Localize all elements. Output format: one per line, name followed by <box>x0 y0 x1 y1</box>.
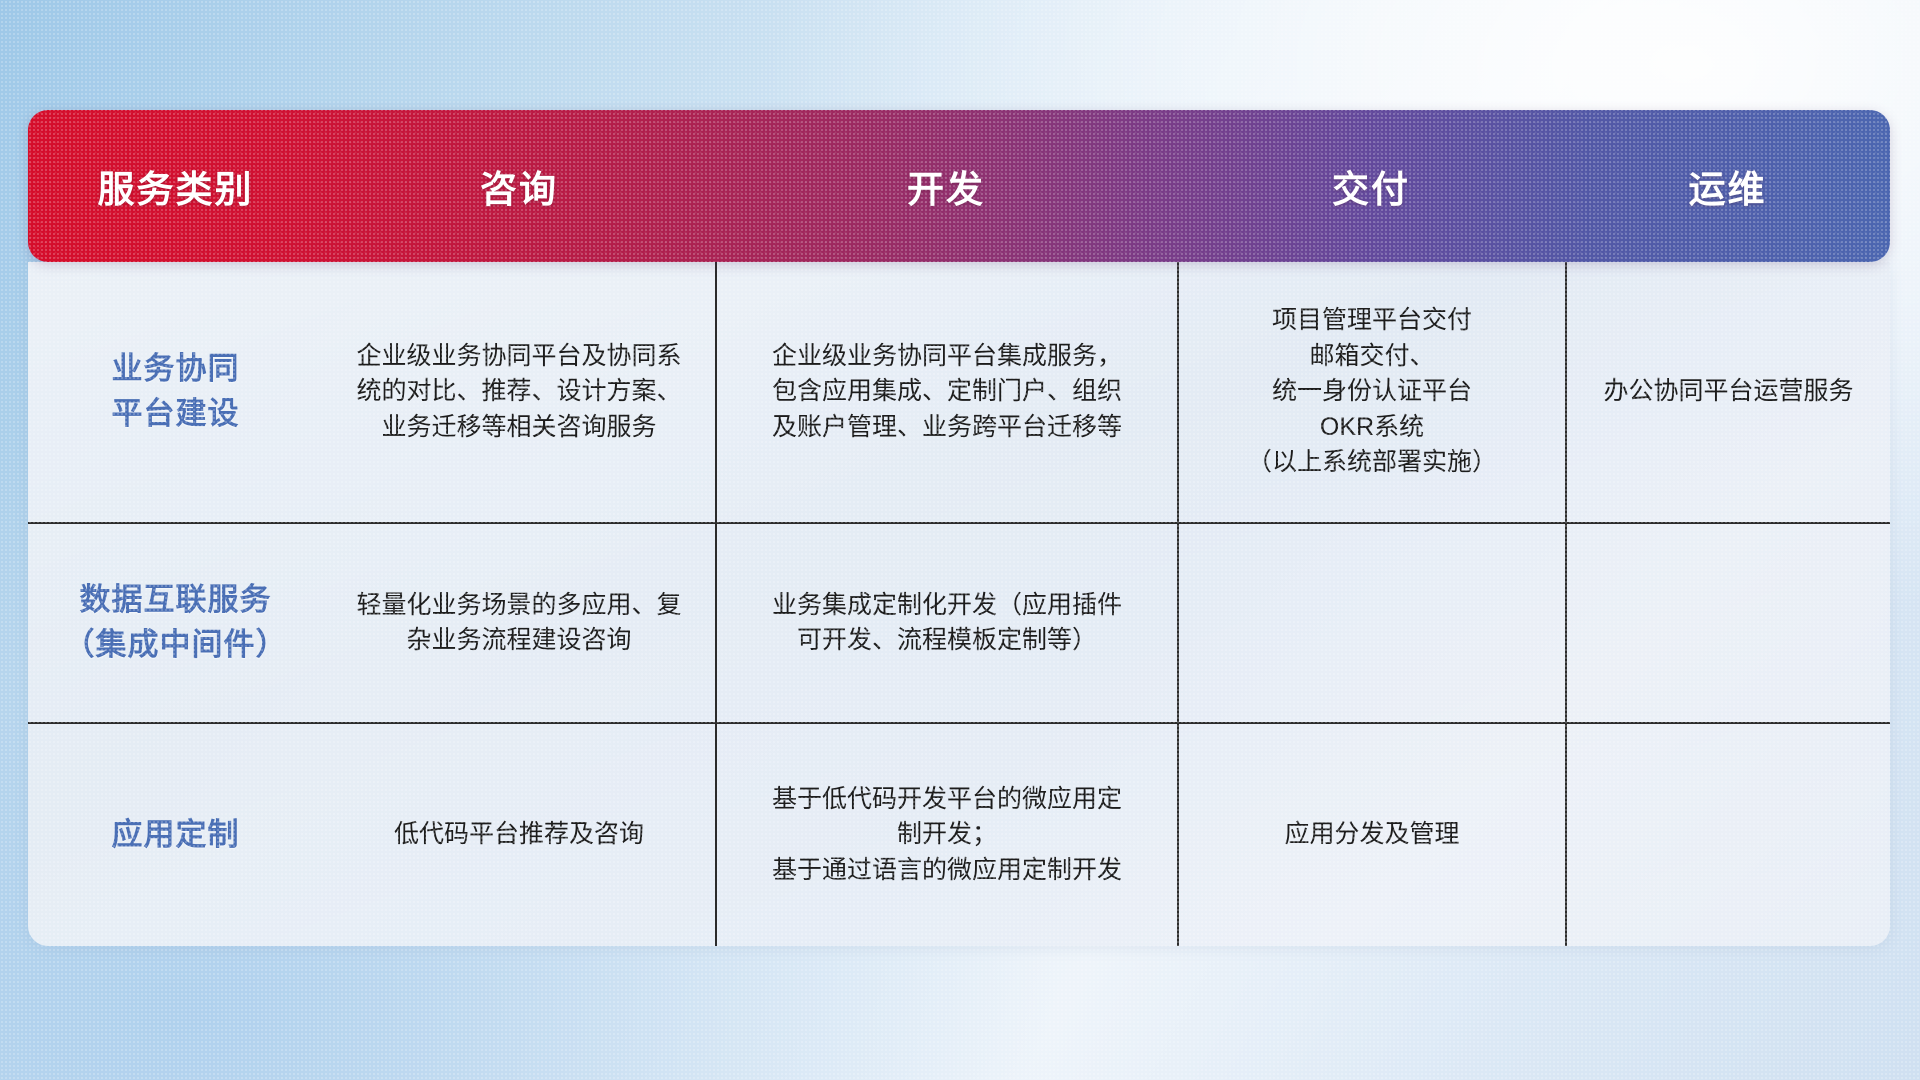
cell-delivery <box>1177 524 1565 722</box>
cell-consulting: 轻量化业务场景的多应用、复 杂业务流程建设咨询 <box>323 524 715 722</box>
cell-operations <box>1565 724 1890 946</box>
cell-operations <box>1565 524 1890 722</box>
cell-development: 企业级业务协同平台集成服务， 包含应用集成、定制门户、组织 及账户管理、业务跨平… <box>715 262 1177 522</box>
column-header-delivery: 交付 <box>1177 159 1565 213</box>
table-row: 数据互联服务 （集成中间件） 轻量化业务场景的多应用、复 杂业务流程建设咨询 业… <box>28 522 1890 722</box>
cell-delivery: 应用分发及管理 <box>1177 724 1565 946</box>
table-row: 应用定制 低代码平台推荐及咨询 基于低代码开发平台的微应用定 制开发； 基于通过… <box>28 722 1890 946</box>
cell-consulting: 企业级业务协同平台及协同系 统的对比、推荐、设计方案、 业务迁移等相关咨询服务 <box>323 262 715 522</box>
service-matrix-table: 业务协同 平台建设 企业级业务协同平台及协同系 统的对比、推荐、设计方案、 业务… <box>28 110 1890 946</box>
row-category-label: 业务协同 平台建设 <box>28 262 323 522</box>
table-header-row: 服务类别 咨询 开发 交付 运维 <box>28 110 1890 262</box>
table-body: 业务协同 平台建设 企业级业务协同平台及协同系 统的对比、推荐、设计方案、 业务… <box>28 262 1890 946</box>
cell-development: 基于低代码开发平台的微应用定 制开发； 基于通过语言的微应用定制开发 <box>715 724 1177 946</box>
cell-consulting: 低代码平台推荐及咨询 <box>323 724 715 946</box>
row-category-label: 数据互联服务 （集成中间件） <box>28 524 323 722</box>
table-row: 业务协同 平台建设 企业级业务协同平台及协同系 统的对比、推荐、设计方案、 业务… <box>28 262 1890 522</box>
column-header-operations: 运维 <box>1565 159 1890 213</box>
column-header-development: 开发 <box>715 159 1177 213</box>
column-header-service-category: 服务类别 <box>28 159 323 213</box>
poster-background: 业务协同 平台建设 企业级业务协同平台及协同系 统的对比、推荐、设计方案、 业务… <box>0 0 1920 1080</box>
cell-development: 业务集成定制化开发（应用插件 可开发、流程模板定制等） <box>715 524 1177 722</box>
cell-delivery: 项目管理平台交付 邮箱交付、 统一身份认证平台 OKR系统 （以上系统部署实施） <box>1177 262 1565 522</box>
row-category-label: 应用定制 <box>28 724 323 946</box>
cell-operations: 办公协同平台运营服务 <box>1565 262 1890 522</box>
column-header-consulting: 咨询 <box>323 159 715 213</box>
